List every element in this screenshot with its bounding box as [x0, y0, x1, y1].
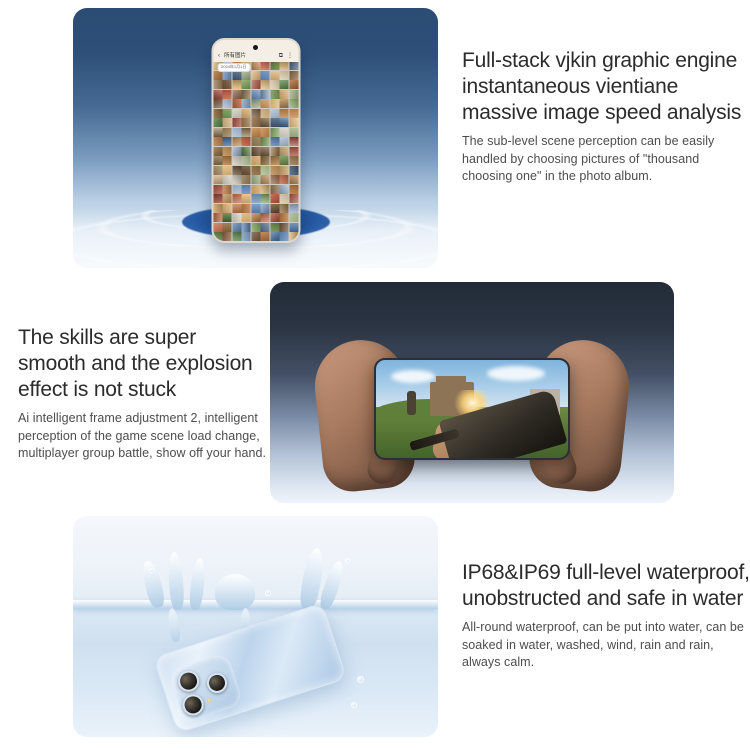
photo-thumbnail[interactable]: [242, 128, 251, 137]
phone-landscape-device: [374, 358, 570, 460]
photo-thumbnail[interactable]: [232, 80, 241, 89]
photo-thumbnail[interactable]: [242, 90, 251, 99]
photo-thumbnail[interactable]: [251, 137, 260, 146]
game-cloud: [487, 366, 545, 381]
photo-thumbnail[interactable]: [242, 147, 251, 156]
photo-thumbnail[interactable]: [270, 147, 279, 156]
photo-thumbnail[interactable]: [232, 99, 241, 108]
photo-thumbnail[interactable]: [270, 71, 279, 80]
photo-thumbnail[interactable]: [251, 194, 260, 203]
photo-thumbnail[interactable]: [223, 128, 232, 137]
photo-thumbnail[interactable]: [232, 194, 241, 203]
feature-image-waterproof: [73, 516, 438, 737]
photo-thumbnail[interactable]: [289, 137, 298, 146]
game-cloud: [391, 370, 435, 383]
photo-thumbnail[interactable]: [232, 90, 241, 99]
photo-thumbnail[interactable]: [232, 223, 241, 232]
photo-thumbnail[interactable]: [261, 213, 270, 222]
photo-thumbnail[interactable]: [289, 80, 298, 89]
photo-thumbnail[interactable]: [251, 232, 260, 241]
water-bubble: [149, 568, 154, 573]
subcopy-waterproof: All-round waterproof, can be put into wa…: [462, 619, 750, 672]
photo-thumbnail[interactable]: [242, 71, 251, 80]
photo-thumbnail[interactable]: [289, 166, 298, 175]
game-scene: [376, 360, 568, 458]
photo-thumbnail[interactable]: [223, 213, 232, 222]
headline-game: The skills are super smooth and the expl…: [18, 325, 268, 403]
photo-thumbnail[interactable]: [223, 137, 232, 146]
subcopy-game: Ai intelligent frame adjustment 2, intel…: [18, 410, 268, 463]
headline-gallery: Full-stack vjkin graphic engine instanta…: [462, 48, 750, 126]
photo-thumbnail[interactable]: [261, 166, 270, 175]
photo-thumbnail[interactable]: [261, 232, 270, 241]
photo-thumbnail[interactable]: [232, 147, 241, 156]
photo-thumbnail[interactable]: [261, 118, 270, 127]
water-splash: [215, 574, 255, 610]
photo-thumbnail[interactable]: [280, 166, 289, 175]
photo-thumbnail[interactable]: [232, 175, 241, 184]
photo-thumbnail[interactable]: [232, 242, 241, 244]
photo-thumbnail[interactable]: [289, 156, 298, 165]
photo-thumbnail[interactable]: [280, 61, 289, 70]
photo-thumbnail[interactable]: [270, 90, 279, 99]
photo-thumbnail[interactable]: [289, 109, 298, 118]
photo-thumbnail[interactable]: [223, 109, 232, 118]
photo-thumbnail[interactable]: [213, 147, 222, 156]
photo-thumbnail[interactable]: [213, 137, 222, 146]
photo-thumbnail[interactable]: [270, 80, 279, 89]
photo-thumbnail[interactable]: [223, 71, 232, 80]
photo-thumbnail[interactable]: [232, 128, 241, 137]
photo-thumbnail[interactable]: [261, 185, 270, 194]
water-surface-line: [73, 600, 438, 609]
photo-thumbnail[interactable]: [280, 118, 289, 127]
photo-thumbnail[interactable]: [223, 156, 232, 165]
photo-thumbnail[interactable]: [270, 223, 279, 232]
photo-thumbnail[interactable]: [232, 185, 241, 194]
photo-thumbnail[interactable]: [261, 109, 270, 118]
photo-thumbnail[interactable]: [232, 137, 241, 146]
back-icon[interactable]: ‹: [218, 53, 220, 59]
photo-thumbnail[interactable]: [251, 156, 260, 165]
photo-thumbnail[interactable]: [280, 71, 289, 80]
photo-thumbnail[interactable]: [213, 175, 222, 184]
photo-thumbnail[interactable]: [280, 185, 289, 194]
photo-thumbnail[interactable]: [251, 147, 260, 156]
photo-thumbnail[interactable]: [261, 242, 270, 244]
photo-thumbnail[interactable]: [223, 185, 232, 194]
photo-thumbnail[interactable]: [213, 185, 222, 194]
photo-thumbnail[interactable]: [223, 90, 232, 99]
photo-thumbnail[interactable]: [251, 213, 260, 222]
photo-thumbnail[interactable]: [261, 80, 270, 89]
photo-thumbnail[interactable]: [213, 90, 222, 99]
photo-thumbnail[interactable]: [232, 118, 241, 127]
select-photos-icon[interactable]: ⧉: [279, 53, 283, 59]
photo-thumbnail[interactable]: [242, 204, 251, 213]
photo-thumbnail[interactable]: [242, 185, 251, 194]
photo-thumbnail[interactable]: [280, 80, 289, 89]
photo-thumbnail[interactable]: [261, 99, 270, 108]
photo-thumbnail[interactable]: [270, 232, 279, 241]
photo-thumbnail[interactable]: [242, 156, 251, 165]
photo-thumbnail[interactable]: [213, 166, 222, 175]
photo-thumbnail[interactable]: [232, 109, 241, 118]
photo-thumbnail[interactable]: [251, 61, 260, 70]
photo-thumbnail[interactable]: [242, 194, 251, 203]
photo-thumbnail[interactable]: [289, 194, 298, 203]
water-bubble: [357, 676, 364, 683]
photo-thumbnail[interactable]: [280, 223, 289, 232]
photo-thumbnail[interactable]: [223, 80, 232, 89]
photo-thumbnail[interactable]: [232, 213, 241, 222]
photo-thumbnail[interactable]: [270, 156, 279, 165]
product-feature-page: ‹ 所有图片 ⧉ ⋮ 2024年1月1日 Full-stack vjkin gr…: [0, 0, 750, 750]
photo-thumbnail[interactable]: [270, 99, 279, 108]
camera-lens-main: [175, 668, 201, 694]
game-building-roof: [436, 376, 466, 386]
photo-thumbnail[interactable]: [242, 166, 251, 175]
gallery-date-chip: 2024年1月1日: [217, 63, 250, 72]
photo-thumbnail[interactable]: [213, 213, 222, 222]
photo-thumbnail[interactable]: [280, 99, 289, 108]
camera-lens-macro: [180, 692, 206, 718]
photo-thumbnail[interactable]: [251, 99, 260, 108]
photo-thumbnail[interactable]: [289, 147, 298, 156]
photo-thumbnail[interactable]: [270, 175, 279, 184]
photo-thumbnail[interactable]: [213, 80, 222, 89]
game-enemy-silhouette: [407, 391, 416, 415]
photo-thumbnail[interactable]: [289, 185, 298, 194]
photo-thumbnail[interactable]: [280, 194, 289, 203]
photo-thumbnail[interactable]: [270, 61, 279, 70]
phone-portrait-device: ‹ 所有图片 ⧉ ⋮ 2024年1月1日: [211, 38, 300, 243]
photo-thumbnail[interactable]: [270, 166, 279, 175]
camera-lens-ultrawide: [204, 670, 229, 695]
photo-thumbnail[interactable]: [251, 118, 260, 127]
photo-thumbnail[interactable]: [261, 71, 270, 80]
photo-thumbnail[interactable]: [289, 128, 298, 137]
gallery-title: 所有图片: [224, 54, 246, 60]
photo-thumbnail[interactable]: [261, 90, 270, 99]
photo-thumbnail[interactable]: [223, 232, 232, 241]
photo-thumbnail[interactable]: [213, 223, 222, 232]
photo-thumbnail[interactable]: [251, 204, 260, 213]
water-bubble: [345, 558, 350, 563]
photo-thumbnail[interactable]: [270, 137, 279, 146]
photo-thumbnail[interactable]: [261, 223, 270, 232]
feature-copy-game: The skills are super smooth and the expl…: [18, 325, 268, 463]
photo-thumbnail[interactable]: [289, 99, 298, 108]
photo-thumbnail[interactable]: [242, 109, 251, 118]
photo-thumbnail[interactable]: [232, 204, 241, 213]
photo-thumbnail[interactable]: [270, 128, 279, 137]
photo-thumbnail[interactable]: [270, 194, 279, 203]
photo-thumbnail[interactable]: [270, 204, 279, 213]
photo-thumbnail[interactable]: [280, 204, 289, 213]
photo-thumbnail[interactable]: [251, 80, 260, 89]
photo-thumbnail[interactable]: [270, 242, 279, 244]
photo-thumbnail[interactable]: [242, 242, 251, 244]
feature-copy-gallery: Full-stack vjkin graphic engine instanta…: [462, 48, 750, 186]
photo-thumbnail[interactable]: [280, 232, 289, 241]
subcopy-gallery: The sub-level scene perception can be ea…: [462, 133, 750, 186]
photo-thumbnail[interactable]: [213, 194, 222, 203]
photo-thumbnail[interactable]: [242, 137, 251, 146]
photo-thumbnail[interactable]: [289, 90, 298, 99]
photo-thumbnail[interactable]: [213, 99, 222, 108]
photo-thumbnail[interactable]: [251, 223, 260, 232]
photo-thumbnail[interactable]: [213, 204, 222, 213]
feature-copy-waterproof: IP68&IP69 full-level waterproof, unobstr…: [462, 560, 750, 672]
photo-thumbnail[interactable]: [261, 156, 270, 165]
photo-thumbnail[interactable]: [251, 185, 260, 194]
photo-thumbnail[interactable]: [251, 166, 260, 175]
camera-island: [168, 652, 244, 723]
feature-image-gallery: ‹ 所有图片 ⧉ ⋮ 2024年1月1日: [73, 8, 438, 268]
photo-thumbnail[interactable]: [223, 118, 232, 127]
photo-thumbnail[interactable]: [213, 128, 222, 137]
water-bubble: [265, 590, 271, 596]
photo-thumbnail[interactable]: [280, 156, 289, 165]
photo-thumbnail[interactable]: [223, 175, 232, 184]
photo-thumbnail[interactable]: [280, 242, 289, 244]
water-splash: [167, 607, 182, 642]
gallery-app-header: ‹ 所有图片 ⧉ ⋮: [213, 40, 298, 62]
photo-thumbnail[interactable]: [232, 71, 241, 80]
photo-thumbnail[interactable]: [289, 71, 298, 80]
photo-thumbnail[interactable]: [270, 185, 279, 194]
photo-thumbnail[interactable]: [251, 90, 260, 99]
photo-thumbnail[interactable]: [280, 109, 289, 118]
photo-thumbnail[interactable]: [270, 213, 279, 222]
photo-thumbnail[interactable]: [289, 61, 298, 70]
photo-thumbnail[interactable]: [270, 118, 279, 127]
photo-thumbnail[interactable]: [242, 99, 251, 108]
photo-thumbnail[interactable]: [223, 223, 232, 232]
photo-thumbnail[interactable]: [223, 204, 232, 213]
photo-thumbnail[interactable]: [261, 175, 270, 184]
photo-thumbnail[interactable]: [251, 175, 260, 184]
photo-thumbnail[interactable]: [261, 147, 270, 156]
photo-thumbnail[interactable]: [223, 242, 232, 244]
photo-thumbnail[interactable]: [261, 194, 270, 203]
photo-thumbnail[interactable]: [242, 80, 251, 89]
photo-thumbnail[interactable]: [261, 204, 270, 213]
photo-thumbnail[interactable]: [223, 147, 232, 156]
photo-thumbnail[interactable]: [213, 109, 222, 118]
photo-thumbnail[interactable]: [232, 166, 241, 175]
phone-waterproof-device: [153, 602, 347, 733]
more-options-icon[interactable]: ⋮: [287, 53, 293, 59]
photo-thumbnail[interactable]: [289, 232, 298, 241]
photo-thumbnail[interactable]: [289, 118, 298, 127]
photo-thumbnail[interactable]: [270, 109, 279, 118]
photo-thumbnail[interactable]: [223, 194, 232, 203]
photo-thumbnail[interactable]: [223, 99, 232, 108]
photo-thumbnail[interactable]: [242, 118, 251, 127]
photo-thumbnail[interactable]: [280, 90, 289, 99]
photo-thumbnail[interactable]: [289, 213, 298, 222]
photo-thumbnail[interactable]: [251, 128, 260, 137]
photo-thumbnail[interactable]: [242, 175, 251, 184]
photo-thumbnail[interactable]: [261, 128, 270, 137]
photo-thumbnail[interactable]: [242, 223, 251, 232]
photo-thumbnail[interactable]: [213, 232, 222, 241]
photo-thumbnail[interactable]: [213, 156, 222, 165]
photo-thumbnail[interactable]: [251, 109, 260, 118]
feature-image-game: [270, 282, 674, 503]
photo-thumbnail[interactable]: [280, 147, 289, 156]
photo-thumbnail[interactable]: [242, 213, 251, 222]
photo-thumbnail[interactable]: [280, 175, 289, 184]
photo-thumbnail[interactable]: [289, 175, 298, 184]
photo-thumbnail[interactable]: [213, 71, 222, 80]
photo-thumbnail[interactable]: [232, 232, 241, 241]
photo-thumbnail[interactable]: [289, 204, 298, 213]
photo-thumbnail[interactable]: [242, 232, 251, 241]
photo-thumbnail[interactable]: [213, 118, 222, 127]
camera-flash-icon: [206, 698, 211, 703]
headline-waterproof: IP68&IP69 full-level waterproof, unobstr…: [462, 560, 750, 612]
photo-thumbnail[interactable]: [280, 128, 289, 137]
photo-thumbnail[interactable]: [280, 213, 289, 222]
photo-thumbnail[interactable]: [261, 61, 270, 70]
photo-thumbnail[interactable]: [223, 166, 232, 175]
photo-thumbnail[interactable]: [232, 156, 241, 165]
photo-thumbnail-grid[interactable]: [213, 61, 298, 241]
photo-thumbnail[interactable]: [289, 223, 298, 232]
photo-thumbnail[interactable]: [251, 242, 260, 244]
photo-thumbnail[interactable]: [251, 71, 260, 80]
photo-thumbnail[interactable]: [280, 137, 289, 146]
front-camera-punch-hole: [253, 45, 258, 50]
water-bubble: [351, 702, 357, 708]
photo-thumbnail[interactable]: [261, 137, 270, 146]
